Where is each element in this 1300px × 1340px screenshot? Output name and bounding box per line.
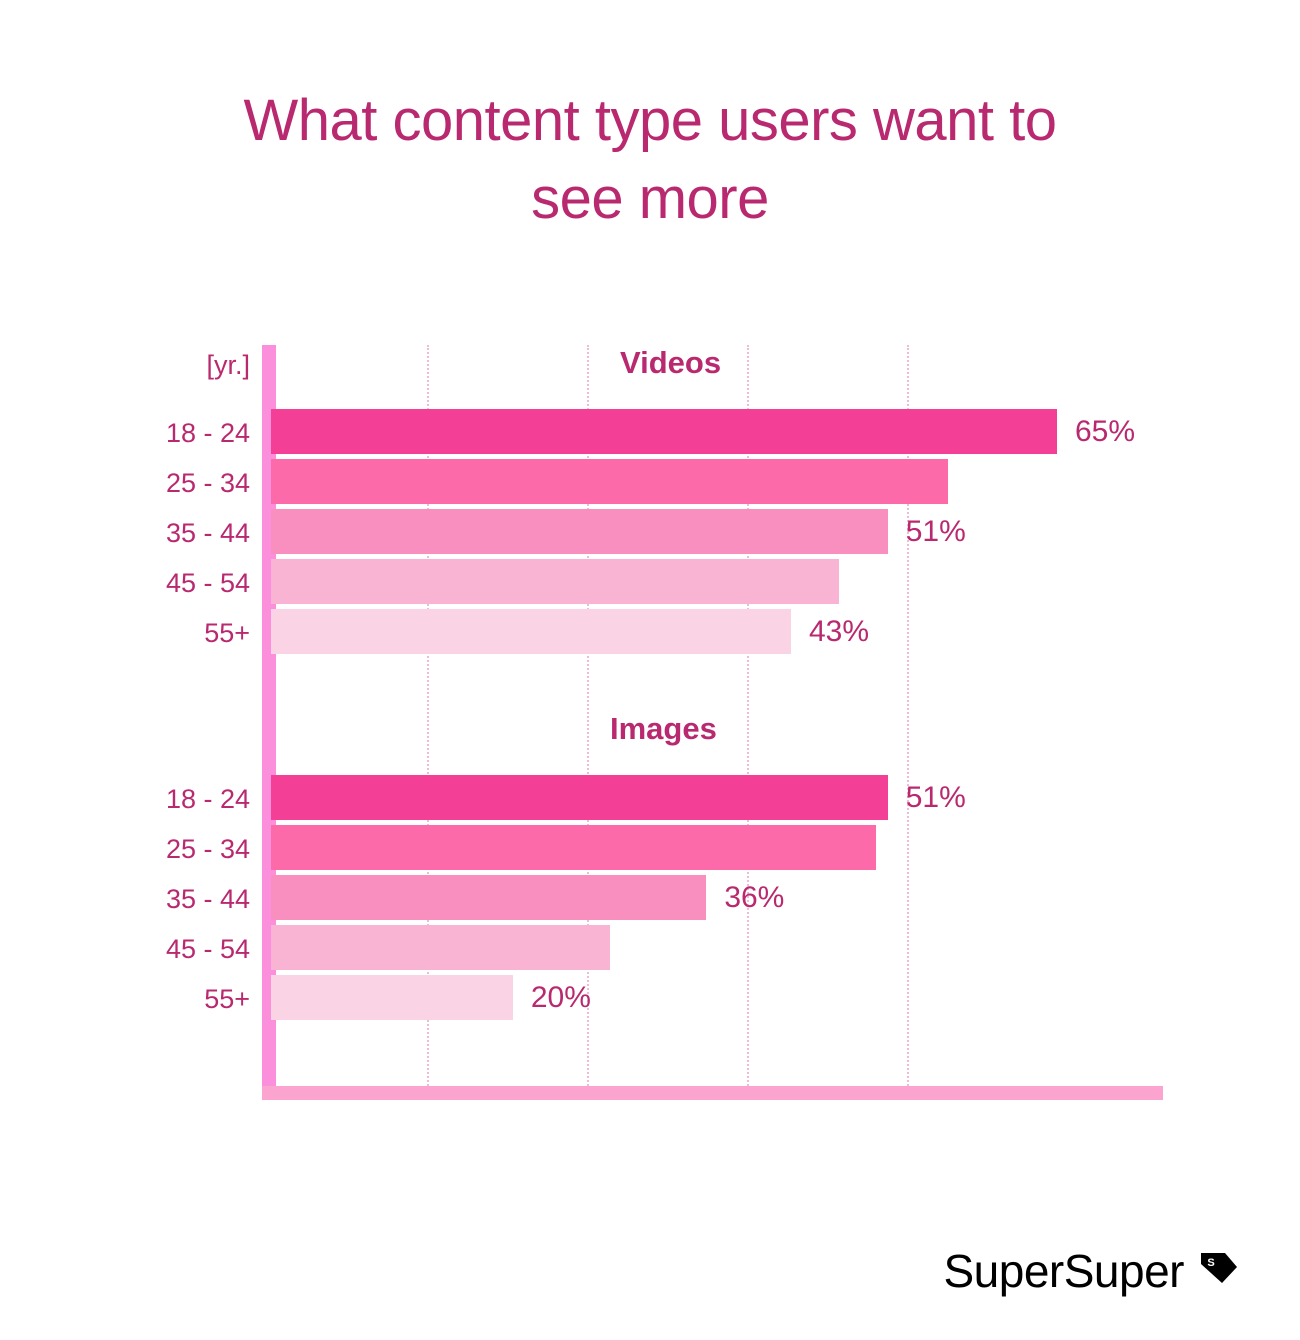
y-tick-videos-35-44: 35 - 44 bbox=[40, 518, 250, 549]
y-tick-videos-45-54: 45 - 54 bbox=[40, 568, 250, 599]
y-tick-images-18-24: 18 - 24 bbox=[40, 784, 250, 815]
section-heading-videos: Videos bbox=[620, 345, 721, 381]
gridline-3 bbox=[747, 345, 751, 1086]
bar-images-25-34 bbox=[271, 825, 876, 870]
bar-images-18-24 bbox=[271, 775, 888, 820]
y-tick-videos-55plus: 55+ bbox=[40, 618, 250, 649]
y-tick-images-25-34: 25 - 34 bbox=[40, 834, 250, 865]
bar-label-videos-55plus: 43% bbox=[809, 615, 869, 649]
bar-videos-45-54 bbox=[271, 559, 839, 604]
chart-plot-area: [yr.] 18 - 24 25 - 34 35 - 44 45 - 54 55… bbox=[0, 0, 1300, 1140]
y-axis-labels: [yr.] 18 - 24 25 - 34 35 - 44 45 - 54 55… bbox=[40, 340, 250, 1100]
price-tag-icon: S bbox=[1198, 1250, 1240, 1292]
x-axis-line bbox=[262, 1086, 1163, 1100]
y-axis-unit-label: [yr.] bbox=[40, 350, 250, 381]
bar-images-45-54 bbox=[271, 925, 610, 970]
y-tick-images-35-44: 35 - 44 bbox=[40, 884, 250, 915]
bar-videos-18-24 bbox=[271, 409, 1057, 454]
brand-logo: SuperSuper S bbox=[944, 1244, 1241, 1298]
bar-label-images-18-24: 51% bbox=[906, 781, 966, 815]
bar-videos-55plus bbox=[271, 609, 791, 654]
y-tick-videos-25-34: 25 - 34 bbox=[40, 468, 250, 499]
bar-videos-35-44 bbox=[271, 509, 888, 554]
bar-label-videos-18-24: 65% bbox=[1075, 415, 1135, 449]
section-heading-images: Images bbox=[610, 711, 717, 747]
gridline-4 bbox=[907, 345, 911, 1086]
svg-text:S: S bbox=[1207, 1257, 1214, 1269]
y-tick-images-45-54: 45 - 54 bbox=[40, 934, 250, 965]
brand-name: SuperSuper bbox=[944, 1244, 1185, 1298]
y-tick-images-55plus: 55+ bbox=[40, 984, 250, 1015]
bar-label-images-55plus: 20% bbox=[531, 981, 591, 1015]
gridline-2 bbox=[587, 345, 591, 1086]
bar-videos-25-34 bbox=[271, 459, 948, 504]
bar-images-55plus bbox=[271, 975, 513, 1020]
y-tick-videos-18-24: 18 - 24 bbox=[40, 418, 250, 449]
bar-images-35-44 bbox=[271, 875, 706, 920]
bar-label-videos-35-44: 51% bbox=[906, 515, 966, 549]
bar-label-images-35-44: 36% bbox=[724, 881, 784, 915]
